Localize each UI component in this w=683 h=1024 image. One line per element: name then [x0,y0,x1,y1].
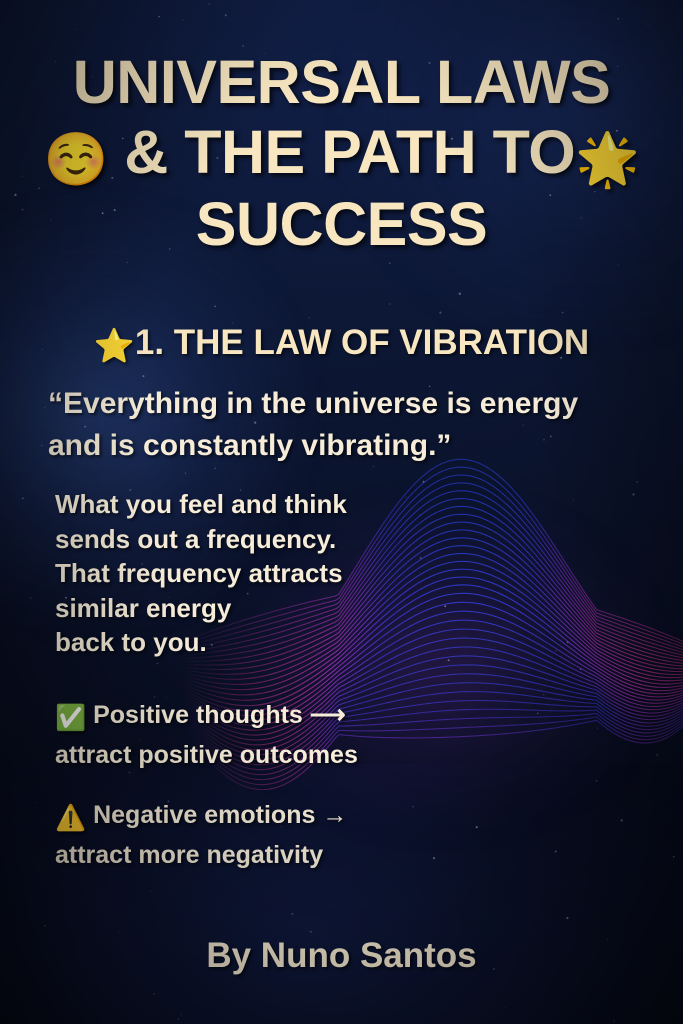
body-line-3: That frequency attracts [55,556,415,591]
bullet-positive-text-1: Positive thoughts [93,701,303,729]
body-line-5: back to you. [55,625,415,660]
page-title: UNIVERSAL LAWS ☺️ & THE PATH TO🌟 SUCCESS [0,48,683,259]
body-line-1: What you feel and think [55,487,415,522]
author-byline: By Nuno Santos [0,936,683,976]
bullet-positive-text-2: attract positive outcomes [55,741,358,769]
warning-sign-icon: ⚠️ [55,804,86,832]
bullet-negative-text-1: Negative emotions [93,801,315,829]
title-line-3: SUCCESS [196,190,487,258]
star-icon: ⭐ [94,327,135,364]
body-paragraph: What you feel and think sends out a freq… [55,487,415,660]
glowing-star-icon: 🌟 [575,131,639,189]
white-check-mark-icon: ✅ [55,704,86,732]
law-quote: “Everything in the universe is energy an… [48,383,648,467]
smiling-face-icon: ☺️ [44,131,108,189]
quote-line-1: “Everything in the universe is energy [48,383,648,425]
bullet-negative-text-2: attract more negativity [55,841,323,869]
body-line-4: similar energy [55,591,415,626]
poster-content: UNIVERSAL LAWS ☺️ & THE PATH TO🌟 SUCCESS… [0,0,683,1024]
bullet-negative: ⚠️ Negative emotions → attract more nega… [55,797,455,873]
title-line-2: & THE PATH TO [124,118,575,186]
poster-canvas: UNIVERSAL LAWS ☺️ & THE PATH TO🌟 SUCCESS… [0,0,683,1024]
body-line-2: sends out a frequency. [55,522,415,557]
arrow-right-icon: → [322,801,347,829]
bullet-positive: ✅ Positive thoughts ⟶ attract positive o… [55,697,455,773]
law-heading-text: 1. THE LAW OF VIBRATION [135,323,589,362]
arrow-right-long-icon: ⟶ [310,701,345,729]
title-line-1: UNIVERSAL LAWS [73,48,611,116]
law-heading: ⭐1. THE LAW OF VIBRATION [0,323,683,366]
quote-line-2: and is constantly vibrating.” [48,425,648,467]
